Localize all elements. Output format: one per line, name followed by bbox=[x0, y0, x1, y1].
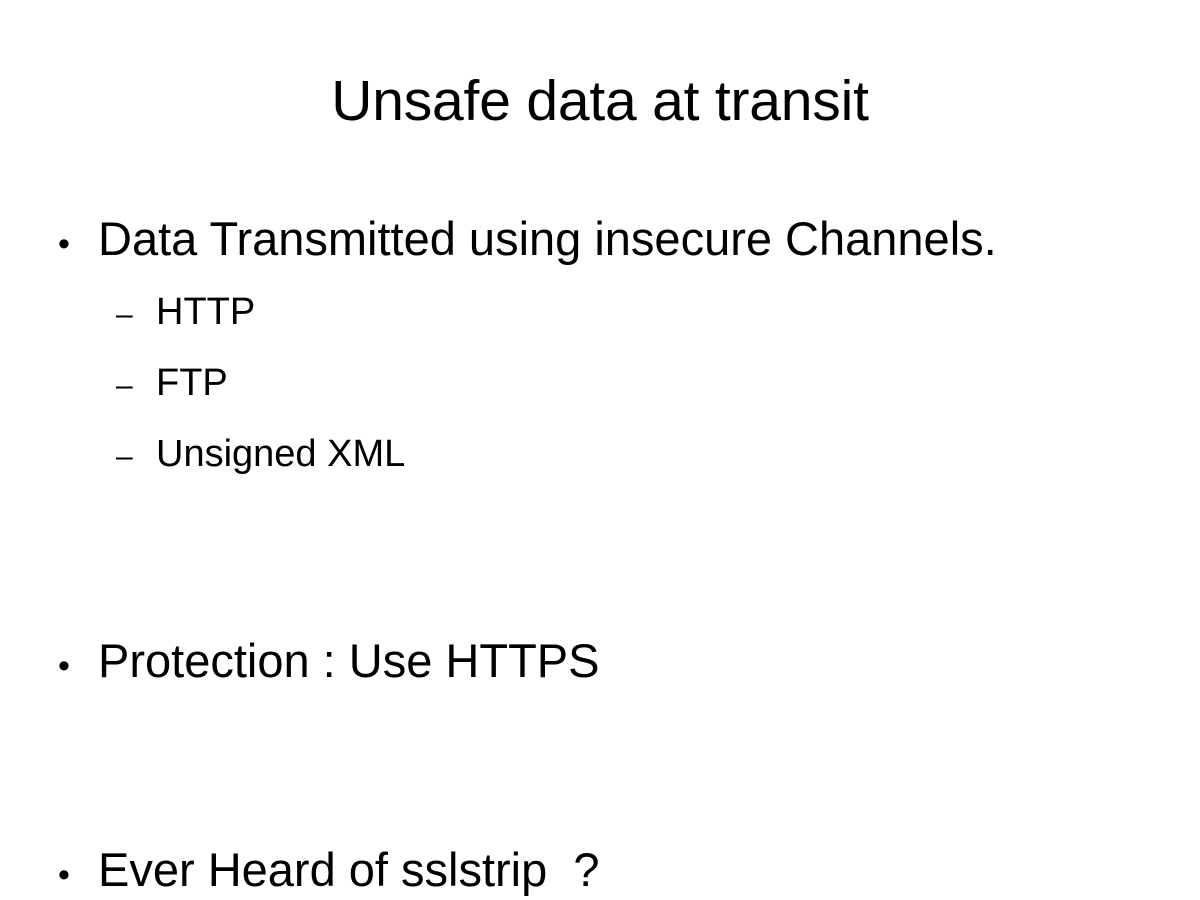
bullet-text: Ever Heard of sslstrip ? bbox=[98, 836, 600, 900]
bullet-marker-dot-icon: • bbox=[58, 841, 98, 900]
bullet-marker-dash-icon: – bbox=[116, 352, 156, 420]
blank-line bbox=[0, 700, 1140, 768]
presentation-slide: Unsafe data at transit • Data Transmitte… bbox=[0, 0, 1200, 900]
bullet-marker-dot-icon: • bbox=[58, 632, 98, 700]
slide-title: Unsafe data at transit bbox=[0, 72, 1200, 132]
bullet-item-level1: • Ever Heard of sslstrip ? bbox=[0, 836, 1140, 900]
blank-line bbox=[0, 491, 1140, 559]
bullet-item-level2: – FTP bbox=[0, 349, 1140, 420]
bullet-text: FTP bbox=[156, 349, 228, 417]
bullet-item-level2: – Unsigned XML bbox=[0, 420, 1140, 491]
blank-line bbox=[0, 559, 1140, 627]
bullet-text: Data Transmitted using insecure Channels… bbox=[98, 205, 997, 273]
bullet-text: HTTP bbox=[156, 278, 255, 346]
bullet-marker-dash-icon: – bbox=[116, 423, 156, 491]
bullet-marker-dash-icon: – bbox=[116, 281, 156, 349]
blank-line bbox=[0, 768, 1140, 836]
slide-body-outline: • Data Transmitted using insecure Channe… bbox=[0, 205, 1140, 900]
bullet-item-level1: • Protection : Use HTTPS bbox=[0, 627, 1140, 700]
bullet-item-level2: – HTTP bbox=[0, 278, 1140, 349]
bullet-text: Protection : Use HTTPS bbox=[98, 627, 600, 695]
bullet-text: Unsigned XML bbox=[156, 420, 405, 488]
bullet-item-level1: • Data Transmitted using insecure Channe… bbox=[0, 205, 1140, 278]
bullet-marker-dot-icon: • bbox=[58, 210, 98, 278]
